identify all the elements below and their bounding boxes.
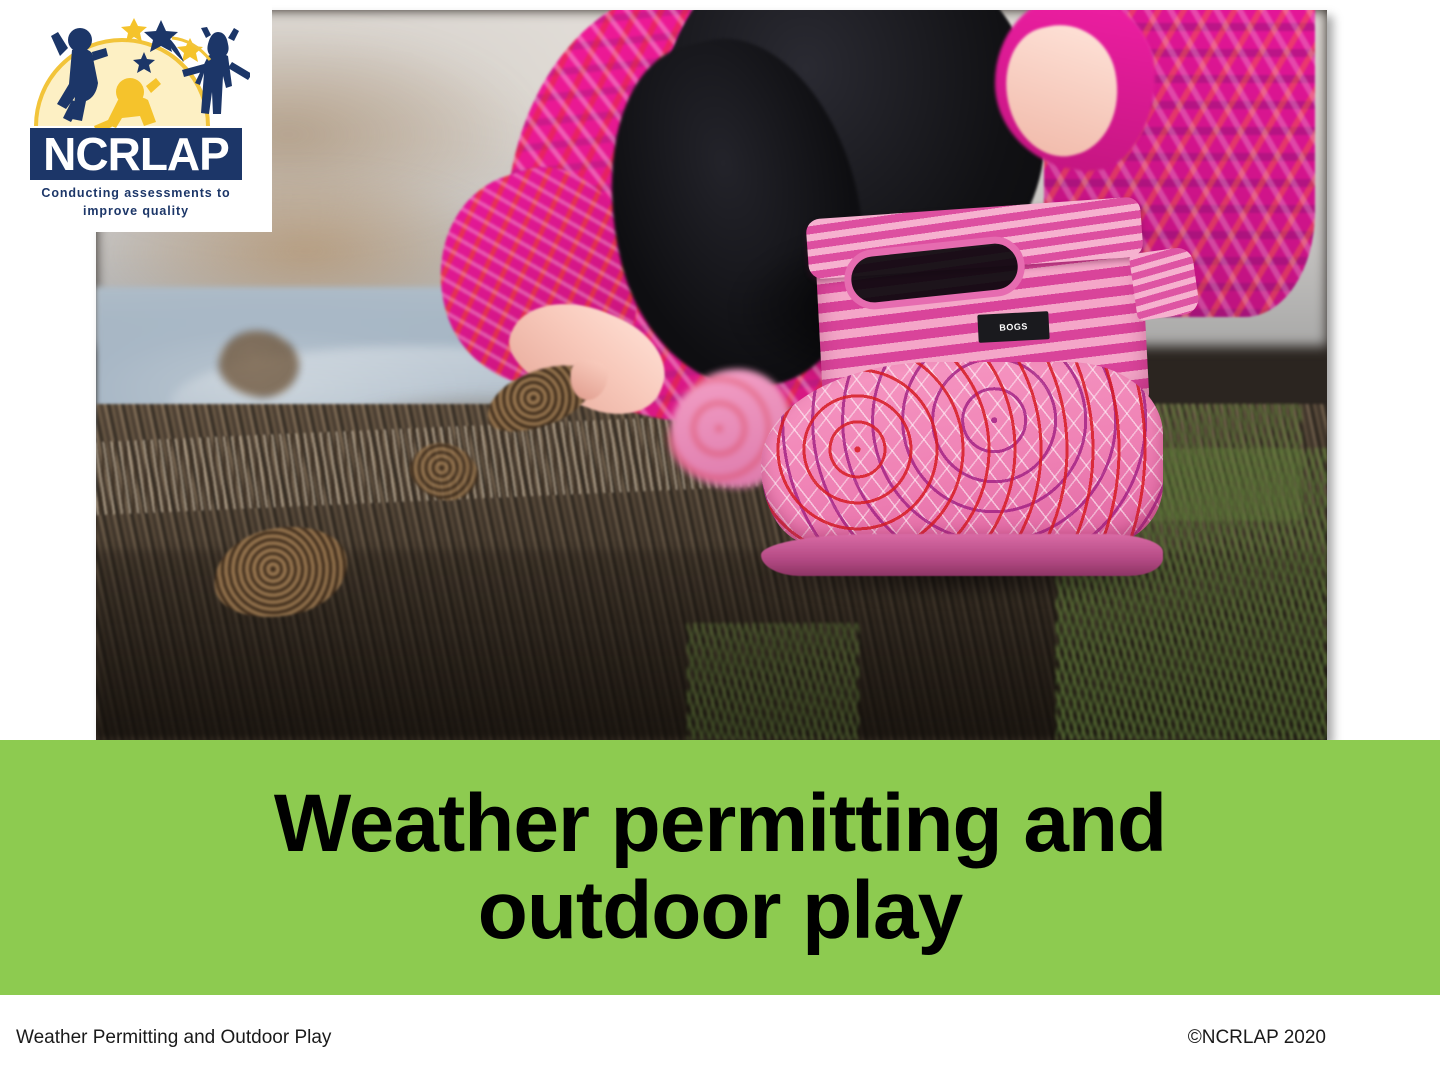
- boot-sole: [761, 534, 1163, 576]
- footer-copyright: ©NCRLAP 2020: [1188, 1027, 1326, 1049]
- boot-side-tab: [1129, 246, 1200, 321]
- outdoor-play-photo: BOGS: [96, 10, 1327, 740]
- boot-brand-text: BOGS: [999, 321, 1028, 332]
- ncrlap-wordmark: NCRLAP: [43, 131, 229, 177]
- ncrlap-logo: NCRLAP Conducting assessments to improve…: [0, 0, 272, 232]
- grass-patch-center: [687, 623, 859, 740]
- page-title: Weather permitting and outdoor play: [140, 781, 1300, 955]
- slide-canvas: BOGS: [0, 0, 1440, 1080]
- footer: Weather Permitting and Outdoor Play ©NCR…: [0, 1005, 1440, 1080]
- ncrlap-tagline: Conducting assessments to improve qualit…: [20, 184, 252, 220]
- boot-brand-label: BOGS: [978, 311, 1051, 343]
- photo-illustration: BOGS: [96, 10, 1327, 740]
- boot-floral-foot: [761, 362, 1163, 544]
- footer-left-text: Weather Permitting and Outdoor Play: [16, 1027, 331, 1049]
- ncrlap-wordmark-band: NCRLAP: [30, 128, 242, 180]
- title-banner: Weather permitting and outdoor play: [0, 740, 1440, 995]
- ncrlap-children-stars-logo-icon: [22, 8, 250, 130]
- pink-rain-boot: BOGS: [761, 229, 1180, 579]
